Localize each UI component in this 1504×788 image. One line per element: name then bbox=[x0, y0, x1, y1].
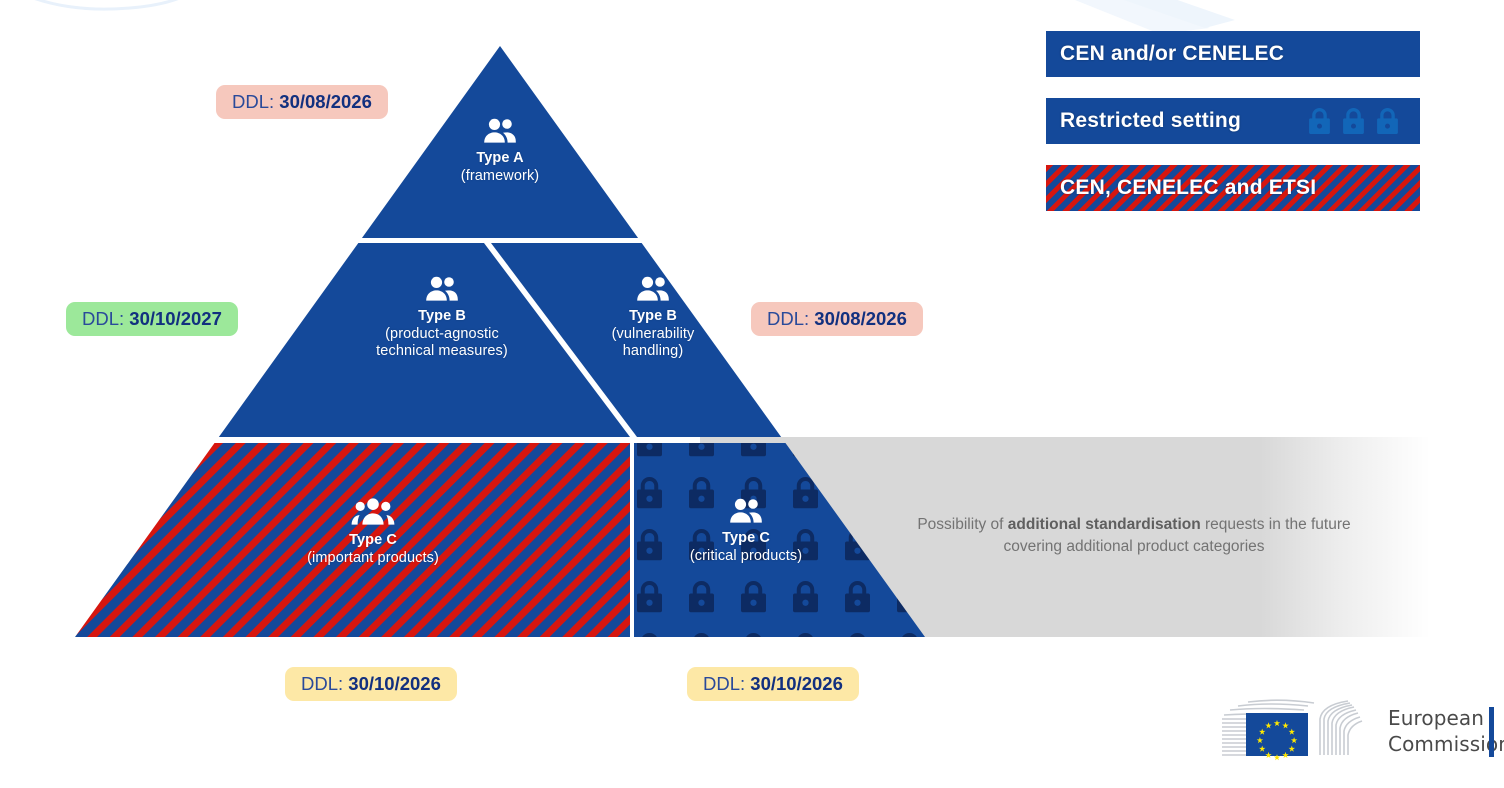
ddl-date: 30/08/2026 bbox=[279, 91, 372, 112]
future-note-line1-before: Possibility of bbox=[917, 516, 1007, 533]
future-standardisation-note: Possibility of additional standardisatio… bbox=[884, 514, 1384, 559]
ec-logo-line2: Commission bbox=[1388, 732, 1504, 758]
european-commission-logo: European Commission bbox=[1216, 697, 1496, 775]
ddl-date: 30/10/2027 bbox=[129, 308, 222, 329]
ddl-date: 30/10/2026 bbox=[348, 673, 441, 694]
ddl-prefix: DDL: bbox=[703, 673, 745, 694]
ddl-badge-type-c-right[interactable]: DDL: 30/10/2026 bbox=[687, 667, 859, 701]
pyramid-diagram: Type A (framework) Type B (product-agnos… bbox=[0, 0, 1010, 700]
future-note-line2: covering additional product categories bbox=[1003, 538, 1264, 555]
lock-icon bbox=[1309, 108, 1330, 134]
ddl-badge-type-b-right[interactable]: DDL: 30/08/2026 bbox=[751, 302, 923, 336]
legend-item-label: CEN and/or CENELEC bbox=[1060, 42, 1284, 66]
pyramid-tier-type-c-important[interactable] bbox=[0, 443, 630, 637]
ec-logo-mark bbox=[1216, 697, 1388, 767]
ddl-date: 30/08/2026 bbox=[814, 308, 907, 329]
legend-item-label: Restricted setting bbox=[1060, 109, 1241, 133]
legend-lock-icons bbox=[1309, 108, 1406, 134]
ddl-prefix: DDL: bbox=[232, 91, 274, 112]
legend-item-label: CEN, CENELEC and ETSI bbox=[1060, 176, 1316, 200]
lock-icon bbox=[1343, 108, 1364, 134]
ddl-date: 30/10/2026 bbox=[750, 673, 843, 694]
ddl-prefix: DDL: bbox=[767, 308, 809, 329]
future-note-line1-after: requests in the future bbox=[1201, 516, 1351, 533]
legend-item-cen-cenelec[interactable]: CEN and/or CENELEC bbox=[1046, 31, 1420, 77]
ddl-badge-type-b-left[interactable]: DDL: 30/10/2027 bbox=[66, 302, 238, 336]
ec-logo-text: European Commission bbox=[1388, 706, 1504, 757]
legend-item-cen-cenelec-etsi[interactable]: CEN, CENELEC and ETSI bbox=[1046, 165, 1420, 211]
ec-logo-accent-bar bbox=[1489, 707, 1494, 757]
lock-icon bbox=[1377, 108, 1398, 134]
pyramid-tier-type-a[interactable] bbox=[0, 0, 1010, 238]
ddl-prefix: DDL: bbox=[82, 308, 124, 329]
ddl-badge-type-a[interactable]: DDL: 30/08/2026 bbox=[216, 85, 388, 119]
legend-item-restricted-setting[interactable]: Restricted setting bbox=[1046, 98, 1420, 144]
legend: CEN and/or CENELEC Restricted setting CE… bbox=[1046, 31, 1420, 232]
future-note-line1-bold: additional standardisation bbox=[1008, 516, 1201, 533]
ec-logo-line1: European bbox=[1388, 706, 1504, 732]
ddl-badge-type-c-left[interactable]: DDL: 30/10/2026 bbox=[285, 667, 457, 701]
ddl-prefix: DDL: bbox=[301, 673, 343, 694]
